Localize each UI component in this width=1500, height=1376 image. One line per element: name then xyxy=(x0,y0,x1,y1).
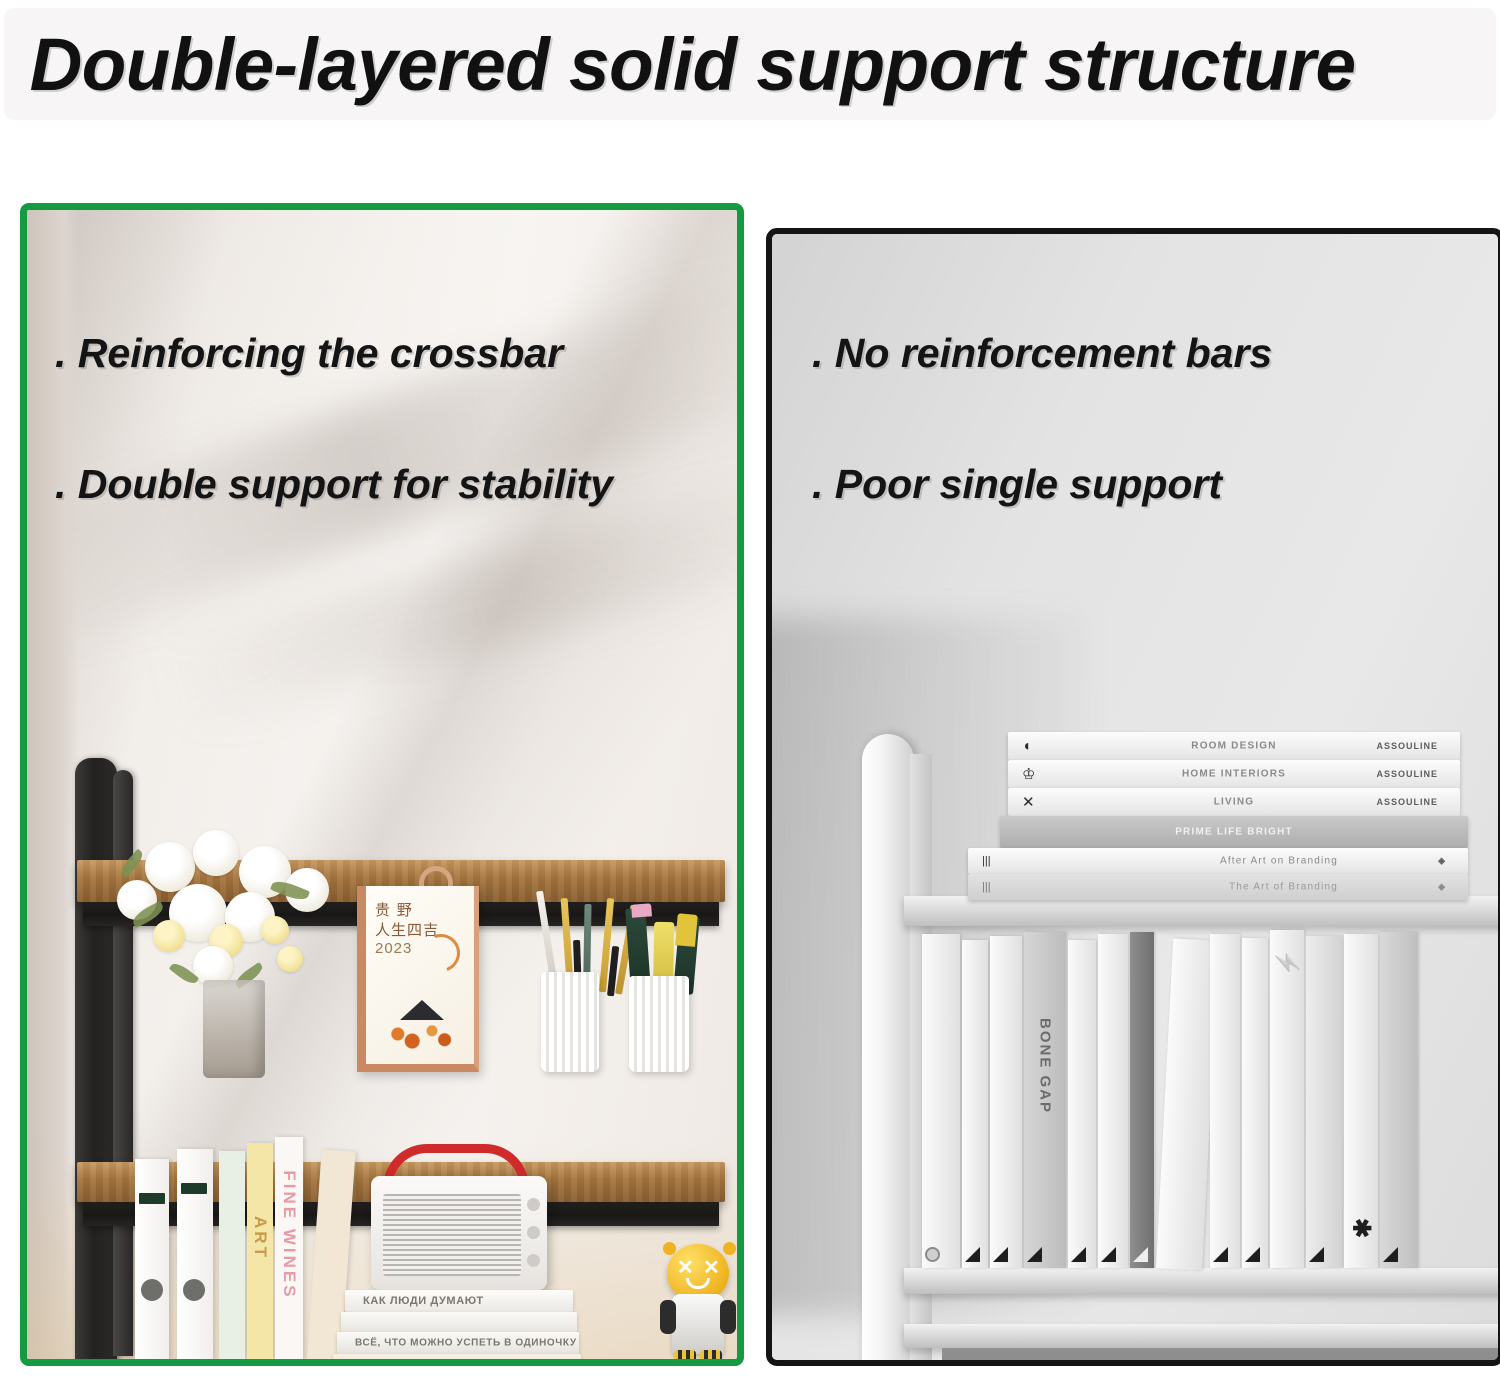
book-icon: ||| xyxy=(982,881,991,893)
list-item xyxy=(990,936,1022,1268)
stacked-book-title: ВСЁ, ЧТО МОЖНО УСПЕТЬ В ОДИНОЧКУ xyxy=(355,1338,577,1349)
figurine-ear-right xyxy=(723,1242,736,1255)
pen-holder-left xyxy=(541,972,599,1072)
list-item: СИЛЬНЕЕ СТРАХА xyxy=(333,1354,581,1359)
book-icon: ||| xyxy=(982,855,991,867)
list-item xyxy=(1068,940,1096,1268)
book-spine-label: ⚡ xyxy=(1274,949,1300,978)
shelf-lower xyxy=(904,1268,1498,1294)
list-item: ✕ LIVING ASSOULINE xyxy=(1008,788,1460,816)
list-item: ||| The Art of Branding ◈ xyxy=(968,874,1468,900)
list-item xyxy=(922,934,960,1268)
list-item: PRIME LIFE BRIGHT xyxy=(1000,816,1468,848)
list-item xyxy=(1306,936,1342,1268)
list-item: КАК ЛЮДИ ДУМАЮТ xyxy=(345,1290,573,1312)
figurine-arm-right xyxy=(720,1300,736,1334)
book-title: ROOM DESIGN xyxy=(1191,741,1276,752)
stacked-book-title: КАК ЛЮДИ ДУМАЮТ xyxy=(363,1295,484,1307)
book-spine-label: ✱ xyxy=(1347,1218,1376,1238)
list-item: ⚡ xyxy=(1270,930,1304,1268)
list-item xyxy=(177,1149,213,1359)
list-item: FINE WINES xyxy=(275,1137,303,1359)
radio-knob-bottom[interactable] xyxy=(527,1254,540,1267)
book-title: PRIME LIFE BRIGHT xyxy=(1175,827,1293,838)
list-item xyxy=(1242,938,1268,1268)
list-item xyxy=(1098,934,1128,1268)
desk-calendar: 贵 野 人生四吉 2023 xyxy=(357,886,479,1072)
figurine-arm-left xyxy=(660,1300,676,1334)
list-item xyxy=(341,1312,577,1332)
book-title: The Art of Branding xyxy=(1229,882,1338,893)
glass-vase xyxy=(203,980,265,1078)
non-reinforced-shelf-panel: ◖ ROOM DESIGN ASSOULINE ♔ HOME INTERIORS… xyxy=(766,228,1500,1366)
list-item xyxy=(219,1151,245,1359)
retro-radio xyxy=(371,1176,547,1290)
flower-bouquet xyxy=(109,828,359,998)
book-brand: ◈ xyxy=(1438,856,1446,867)
list-item xyxy=(1380,932,1418,1268)
figurine-smile-icon xyxy=(686,1278,710,1289)
binder-ring-icon xyxy=(141,1279,163,1301)
product-comparison-page: Double-layered solid support structure xyxy=(0,0,1500,1376)
calendar-year: 2023 xyxy=(375,940,412,957)
book-spine-label: FINE WINES xyxy=(279,1170,299,1299)
reinforced-shelf-panel: 贵 野 人生四吉 2023 xyxy=(20,203,744,1366)
book-brand: ◈ xyxy=(1438,882,1446,893)
list-item xyxy=(1210,934,1240,1268)
non-reinforced-bullet-list: . No reinforcement bars . Poor single su… xyxy=(812,330,1272,508)
list-item: BONE GAP xyxy=(1024,932,1066,1268)
figurine-foot-right xyxy=(700,1350,722,1359)
figurine-foot-left xyxy=(674,1350,696,1359)
book-spine-label: ART xyxy=(250,1216,270,1260)
list-item xyxy=(135,1159,169,1359)
binder-ring-icon xyxy=(183,1279,205,1301)
list-item: ART xyxy=(247,1143,273,1359)
bullet-double-support: . Double support for stability xyxy=(55,461,613,508)
figurine-eye-left-icon: ✕ xyxy=(677,1261,692,1276)
book-brand: ASSOULINE xyxy=(1376,769,1438,779)
bullet-reinforcing-crossbar: . Reinforcing the crossbar xyxy=(55,330,613,377)
book-icon: ♔ xyxy=(1022,765,1035,783)
title-banner: Double-layered solid support structure xyxy=(4,8,1496,120)
shelf-upper xyxy=(904,896,1498,926)
list-item: ✱ xyxy=(1344,934,1378,1268)
calendar-cn-line1: 贵 野 xyxy=(375,902,413,919)
book-brand: ASSOULINE xyxy=(1376,741,1438,751)
list-item xyxy=(962,940,988,1268)
book-brand: ASSOULINE xyxy=(1376,797,1438,807)
shelf-base xyxy=(904,1324,1498,1348)
bullet-no-reinforcement: . No reinforcement bars xyxy=(812,330,1272,377)
list-item xyxy=(1130,932,1154,1268)
list-item: ◖ ROOM DESIGN ASSOULINE xyxy=(1008,732,1460,760)
calendar-artwork xyxy=(378,986,468,1050)
gray-lower-cabinet xyxy=(942,1348,1498,1360)
bullet-poor-single-support: . Poor single support xyxy=(812,461,1272,508)
pen-holder-right xyxy=(629,976,689,1072)
book-spine-label: BONE GAP xyxy=(1037,1018,1054,1114)
figurine-body xyxy=(672,1294,724,1354)
book-icon: ◖ xyxy=(1022,738,1031,755)
book-title: HOME INTERIORS xyxy=(1182,769,1286,780)
single-white-support-post xyxy=(862,734,914,1360)
binder-label-tag xyxy=(139,1193,165,1204)
page-title: Double-layered solid support structure xyxy=(4,22,1356,107)
list-item: ♔ HOME INTERIORS ASSOULINE xyxy=(1008,760,1460,788)
radio-knob-mid[interactable] xyxy=(527,1226,540,1239)
radio-knob-top[interactable] xyxy=(527,1198,540,1211)
reinforced-bullet-list: . Reinforcing the crossbar . Double supp… xyxy=(55,330,613,508)
book-icon: ✕ xyxy=(1022,793,1035,811)
radio-speaker-grille xyxy=(383,1194,521,1276)
book-title: After Art on Branding xyxy=(1220,856,1338,867)
book-title: LIVING xyxy=(1214,797,1255,808)
figurine-eye-right-icon: ✕ xyxy=(703,1261,718,1276)
list-item: ВСЁ, ЧТО МОЖНО УСПЕТЬ В ОДИНОЧКУ xyxy=(337,1332,579,1354)
list-item: ||| After Art on Branding ◈ xyxy=(968,848,1468,874)
binder-label-tag xyxy=(181,1183,207,1194)
